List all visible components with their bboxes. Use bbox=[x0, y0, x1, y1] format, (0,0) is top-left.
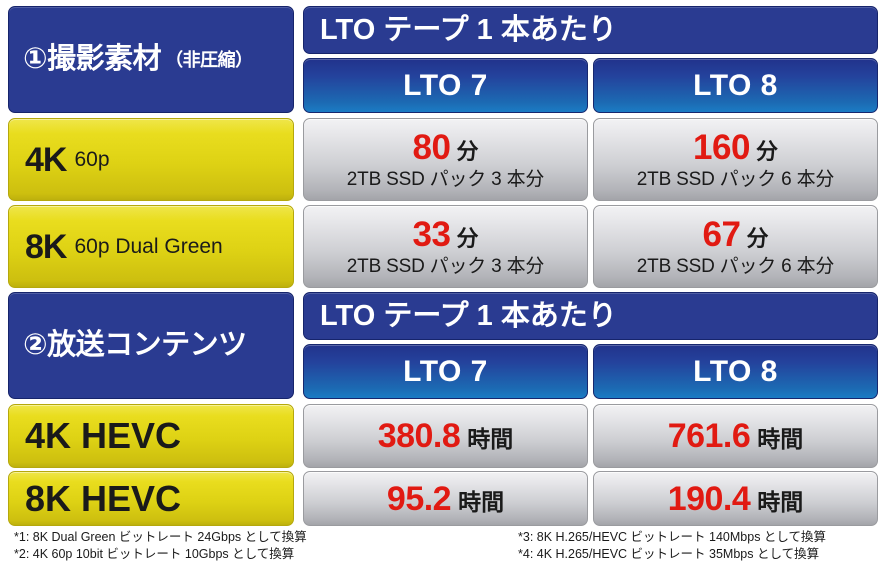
comparison-table: ①撮影素材（非圧縮） LTO テープ 1 本あたり LTO 7 LTO 8 4K… bbox=[0, 0, 886, 560]
value-cell-8khevc-lto8: 190.4 時間 bbox=[593, 471, 878, 526]
value-number: 95.2 bbox=[387, 482, 451, 516]
section-label-sub: （非圧縮） bbox=[165, 51, 253, 69]
section-label-broadcast-content: ②放送コンテンツ bbox=[8, 292, 294, 399]
section-label-main: 放送コンテンツ bbox=[47, 331, 247, 360]
value-unit: 時間 bbox=[467, 428, 513, 451]
value-unit: 時間 bbox=[458, 491, 504, 514]
row-label-name: 8K HEVC bbox=[25, 481, 181, 517]
section-label-text: ① bbox=[23, 45, 47, 74]
section-label-main: 撮影素材 bbox=[47, 45, 161, 74]
row-label-detail: 60p Dual Green bbox=[74, 236, 222, 257]
band-title-lto-tape-1: LTO テープ 1 本あたり bbox=[303, 6, 878, 54]
footnote-1: *1: 8K Dual Green ビットレート 24Gbps として換算 bbox=[14, 529, 307, 546]
column-header-text: LTO 7 bbox=[403, 71, 488, 101]
value-number: 380.8 bbox=[378, 419, 461, 453]
row-label-detail: 60p bbox=[74, 149, 109, 170]
band-title-text: LTO テープ 1 本あたり bbox=[320, 16, 617, 45]
row-label-name: 4K HEVC bbox=[25, 418, 181, 454]
value-number: 190.4 bbox=[668, 482, 751, 516]
row-label-name: 4K bbox=[25, 143, 66, 177]
section-label-shooting-material: ①撮影素材（非圧縮） bbox=[8, 6, 294, 113]
value-cell-8khevc-lto7: 95.2 時間 bbox=[303, 471, 588, 526]
band-title-text: LTO テープ 1 本あたり bbox=[320, 302, 617, 331]
value-cell-4k60p-lto8: 160 分 2TB SSD パック 6 本分 bbox=[593, 118, 878, 201]
value-note: 2TB SSD パック 3 本分 bbox=[347, 170, 544, 189]
value-unit: 分 bbox=[456, 228, 478, 250]
value-unit: 分 bbox=[746, 228, 768, 250]
column-header-text: LTO 8 bbox=[693, 357, 778, 387]
column-header-lto8-section1: LTO 8 bbox=[593, 58, 878, 113]
footnote-4: *4: 4K H.265/HEVC ビットレート 35Mbps として換算 bbox=[518, 546, 826, 563]
value-unit: 時間 bbox=[757, 491, 803, 514]
value-number: 67 bbox=[703, 217, 741, 252]
value-note: 2TB SSD パック 6 本分 bbox=[637, 257, 834, 276]
column-header-text: LTO 7 bbox=[403, 357, 488, 387]
value-cell-4khevc-lto8: 761.6 時間 bbox=[593, 404, 878, 468]
band-title-lto-tape-2: LTO テープ 1 本あたり bbox=[303, 292, 878, 340]
value-number: 761.6 bbox=[668, 419, 751, 453]
row-label-4k-hevc: 4K HEVC bbox=[8, 404, 294, 468]
value-cell-8k60p-lto7: 33 分 2TB SSD パック 3 本分 bbox=[303, 205, 588, 288]
value-cell-8k60p-lto8: 67 分 2TB SSD パック 6 本分 bbox=[593, 205, 878, 288]
column-header-lto7-section1: LTO 7 bbox=[303, 58, 588, 113]
row-label-8k-60p-dual-green: 8K 60p Dual Green bbox=[8, 205, 294, 288]
value-unit: 分 bbox=[756, 141, 778, 163]
footnotes-left: *1: 8K Dual Green ビットレート 24Gbps として換算 *2… bbox=[14, 529, 307, 563]
column-header-text: LTO 8 bbox=[693, 71, 778, 101]
column-header-lto8-section2: LTO 8 bbox=[593, 344, 878, 399]
footnotes-right: *3: 8K H.265/HEVC ビットレート 140Mbps として換算 *… bbox=[518, 529, 826, 563]
row-label-8k-hevc: 8K HEVC bbox=[8, 471, 294, 526]
section-label-text: ② bbox=[23, 331, 47, 360]
value-unit: 分 bbox=[456, 141, 478, 163]
value-note: 2TB SSD パック 6 本分 bbox=[637, 170, 834, 189]
value-number: 80 bbox=[413, 130, 451, 165]
value-number: 160 bbox=[693, 130, 750, 165]
value-unit: 時間 bbox=[757, 428, 803, 451]
value-note: 2TB SSD パック 3 本分 bbox=[347, 257, 544, 276]
value-cell-4k60p-lto7: 80 分 2TB SSD パック 3 本分 bbox=[303, 118, 588, 201]
value-cell-4khevc-lto7: 380.8 時間 bbox=[303, 404, 588, 468]
row-label-4k-60p: 4K 60p bbox=[8, 118, 294, 201]
value-number: 33 bbox=[413, 217, 451, 252]
row-label-name: 8K bbox=[25, 230, 66, 264]
footnote-2: *2: 4K 60p 10bit ビットレート 10Gbps として換算 bbox=[14, 546, 307, 563]
footnote-3: *3: 8K H.265/HEVC ビットレート 140Mbps として換算 bbox=[518, 529, 826, 546]
column-header-lto7-section2: LTO 7 bbox=[303, 344, 588, 399]
